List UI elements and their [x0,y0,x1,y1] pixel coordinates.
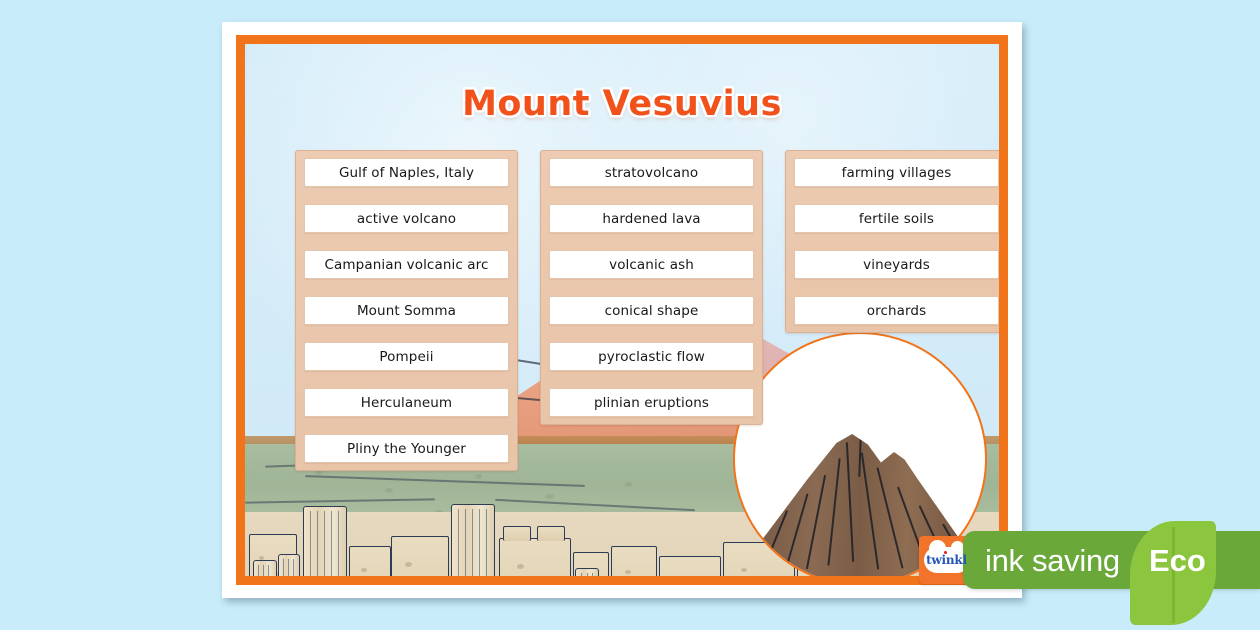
poster-sheet: Mount Vesuvius Gulf of Naples, Italy act… [222,22,1022,598]
word-card-label: Campanian volcanic arc [325,257,489,273]
word-card[interactable]: Herculaneum [304,388,509,417]
word-card-label: Mount Somma [357,303,456,319]
word-card[interactable]: Pompeii [304,342,509,371]
word-card-column-1: Gulf of Naples, Italy active volcano Cam… [295,150,518,471]
word-card[interactable]: stratovolcano [549,158,754,187]
poster-canvas: Mount Vesuvius Gulf of Naples, Italy act… [245,44,999,576]
twinkl-wordmark: twinkl [926,553,967,567]
word-card[interactable]: volcanic ash [549,250,754,279]
word-card-column-2: stratovolcano hardened lava volcanic ash… [540,150,763,425]
word-card-column-3: farming villages fertile soils vineyards… [785,150,999,333]
word-card[interactable]: plinian eruptions [549,388,754,417]
word-card-label: hardened lava [602,211,700,227]
word-card[interactable]: Gulf of Naples, Italy [304,158,509,187]
ink-saving-eco-badge: ink saving Eco [963,531,1260,593]
eco-label: Eco [1149,543,1206,579]
word-card-label: orchards [867,303,926,319]
word-card[interactable]: vineyards [794,250,999,279]
word-card-label: farming villages [842,165,952,181]
word-card[interactable]: hardened lava [549,204,754,233]
word-card[interactable]: active volcano [304,204,509,233]
word-card[interactable]: Campanian volcanic arc [304,250,509,279]
word-card-label: pyroclastic flow [598,349,705,365]
word-card-label: stratovolcano [605,165,699,181]
word-card-label: fertile soils [859,211,934,227]
word-card-label: Pliny the Younger [347,441,466,457]
word-card[interactable]: conical shape [549,296,754,325]
word-card[interactable]: Mount Somma [304,296,509,325]
word-card-label: conical shape [605,303,699,319]
word-card[interactable]: orchards [794,296,999,325]
poster-orange-border: Mount Vesuvius Gulf of Naples, Italy act… [236,35,1008,585]
word-card-label: Herculaneum [361,395,452,411]
word-card[interactable]: farming villages [794,158,999,187]
word-card-label: vineyards [863,257,930,273]
word-card-label: plinian eruptions [594,395,709,411]
ink-saving-label: ink saving [985,543,1120,579]
word-card[interactable]: Pliny the Younger [304,434,509,463]
word-card-label: Gulf of Naples, Italy [339,165,474,181]
word-card[interactable]: pyroclastic flow [549,342,754,371]
page-title: Mount Vesuvius [245,84,999,124]
word-card-label: active volcano [357,211,456,227]
word-card-label: volcanic ash [609,257,694,273]
word-card-label: Pompeii [379,349,433,365]
twinkl-dot-icon [944,551,947,554]
word-card[interactable]: fertile soils [794,204,999,233]
